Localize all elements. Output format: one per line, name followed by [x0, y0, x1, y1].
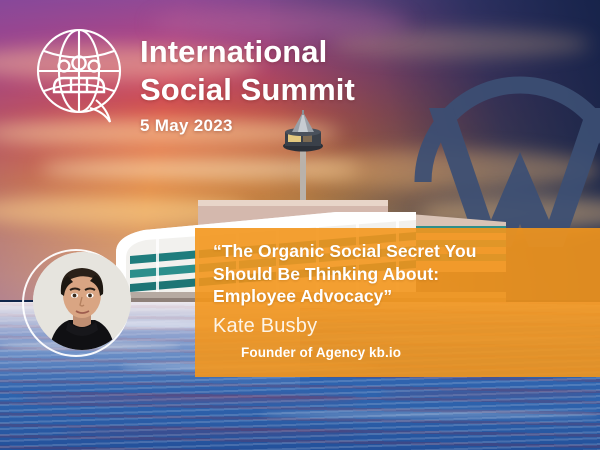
speaker-portrait-illustration	[33, 252, 131, 350]
speaker-role: Founder of Agency kb.io	[213, 345, 586, 360]
event-title-line-2: Social Summit	[140, 71, 470, 109]
globe-speech-bubble-people-logo	[34, 26, 128, 126]
session-title-line-3: Employee Advocacy”	[213, 285, 586, 308]
event-date: 5 May 2023	[140, 116, 470, 136]
session-title-line-1: “The Organic Social Secret You	[213, 240, 586, 263]
conference-promo-slide: International Social Summit 5 May 2023 “…	[0, 0, 600, 450]
water-ripple	[260, 412, 600, 417]
water-ripple	[60, 430, 360, 434]
session-title-line-2: Should Be Thinking About:	[213, 263, 586, 286]
event-title-line-1: International	[140, 33, 470, 71]
avatar	[33, 252, 131, 350]
speaker-name: Kate Busby	[213, 314, 586, 338]
water-ripple	[380, 392, 600, 396]
session-info-banner: “The Organic Social Secret You Should Be…	[195, 228, 600, 377]
event-title-block: International Social Summit 5 May 2023	[140, 33, 470, 136]
water-ripple	[20, 396, 360, 401]
